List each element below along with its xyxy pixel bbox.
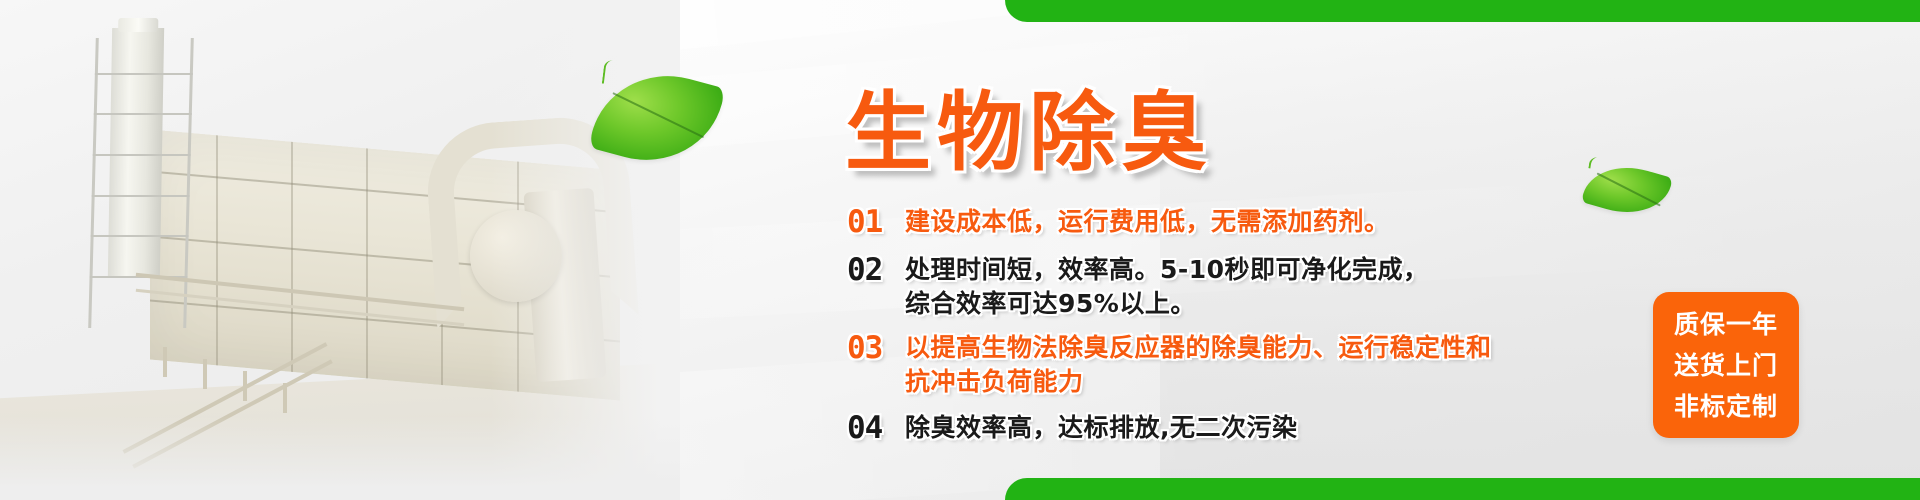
badge-line-3: 非标定制 [1674, 386, 1778, 427]
feature-text: 除臭效率高，达标排放,无二次污染 [905, 411, 1647, 445]
feature-item: 02 处理时间短，效率高。5-10秒即可净化完成， 综合效率可达95%以上。 [847, 253, 1647, 321]
feature-text: 处理时间短，效率高。5-10秒即可净化完成， 综合效率可达95%以上。 [905, 253, 1647, 321]
feature-number: 04 [847, 411, 905, 445]
photo-edge-fade [0, 416, 680, 500]
photo-tower [88, 38, 194, 328]
badge-line-2: 送货上门 [1674, 345, 1778, 386]
feature-list: 01 建设成本低，运行费用低，无需添加药剂。 02 处理时间短，效率高。5-10… [847, 205, 1647, 457]
feature-text: 建设成本低，运行费用低，无需添加药剂。 [905, 205, 1647, 239]
feature-item: 01 建设成本低，运行费用低，无需添加药剂。 [847, 205, 1647, 239]
feature-number: 02 [847, 253, 905, 287]
promo-banner: 生物除臭 01 建设成本低，运行费用低，无需添加药剂。 02 处理时间短，效率高… [0, 0, 1920, 500]
banner-content: 生物除臭 01 建设成本低，运行费用低，无需添加药剂。 02 处理时间短，效率高… [845, 0, 1665, 500]
feature-item: 04 除臭效率高，达标排放,无二次污染 [847, 411, 1647, 445]
feature-item: 03 以提高生物法除臭反应器的除臭能力、运行稳定性和 抗冲击负荷能力 [847, 331, 1647, 399]
badge-line-1: 质保一年 [1674, 304, 1778, 345]
service-guarantee-badge[interactable]: 质保一年 送货上门 非标定制 [1653, 292, 1799, 438]
product-photo [0, 0, 680, 500]
feature-number: 03 [847, 331, 905, 365]
photo-stairs [110, 300, 360, 430]
feature-number: 01 [847, 205, 905, 239]
banner-title: 生物除臭 [845, 62, 1213, 187]
feature-text: 以提高生物法除臭反应器的除臭能力、运行稳定性和 抗冲击负荷能力 [905, 331, 1647, 399]
